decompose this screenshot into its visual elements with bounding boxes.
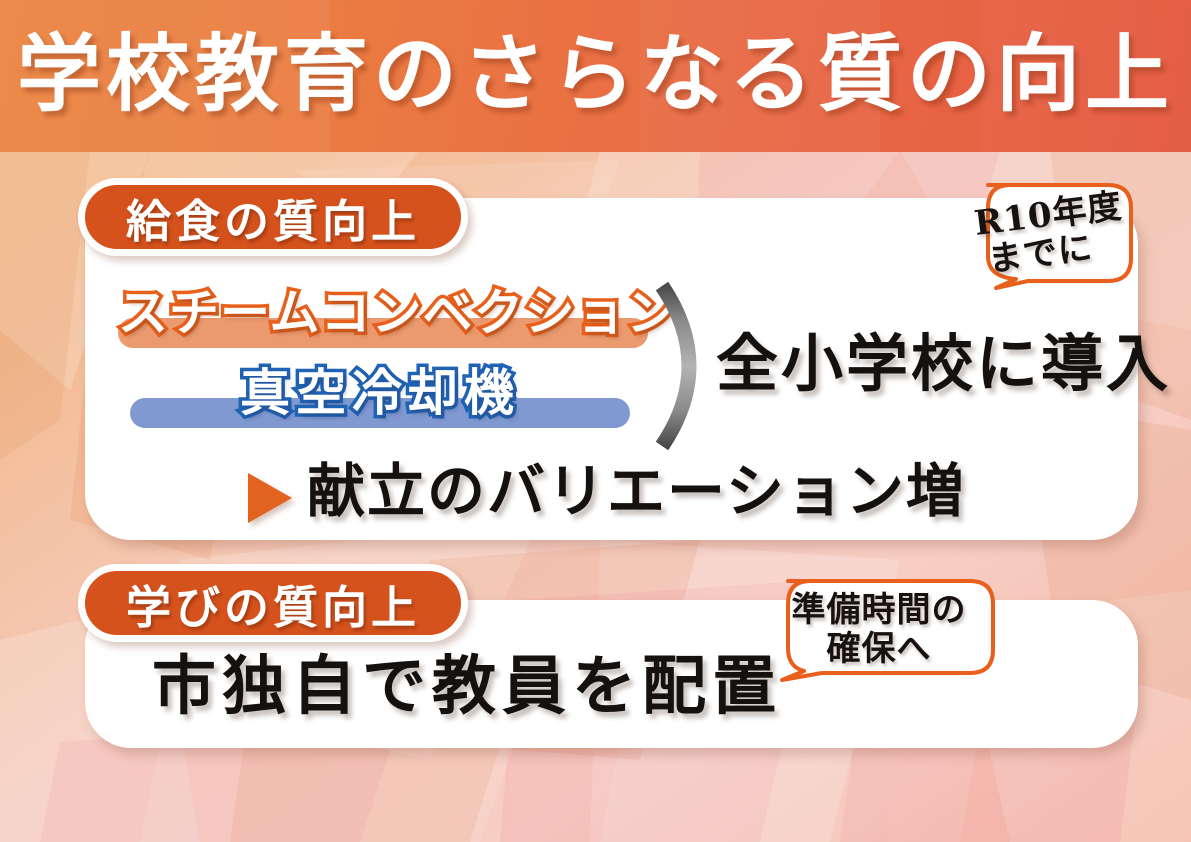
equipment-steam-convection: スチームコンベクション xyxy=(118,278,648,352)
headline-menu-variation: 献立のバリエーション増 xyxy=(307,462,966,520)
badge-kyushoku: 給食の質向上 xyxy=(78,178,468,256)
poster-root: 学校教育のさらなる質の向上 給食の質向上 スチームコンベクション 真空冷却機 全… xyxy=(0,0,1191,842)
equipment-vacuum-label: 真空冷却機 xyxy=(130,358,630,428)
page-title: 学校教育のさらなる質の向上 xyxy=(0,0,1191,152)
bubble-preparation-line2: 確保へ xyxy=(827,630,932,669)
headline-teacher-placement: 市独自で教員を配置 xyxy=(152,655,782,719)
bubble-r10-text: R10年度 までに xyxy=(962,182,1134,290)
title-banner: 学校教育のさらなる質の向上 xyxy=(0,0,1191,152)
bubble-preparation-line1: 準備時間の xyxy=(792,591,967,630)
badge-manabi: 学びの質向上 xyxy=(78,564,468,642)
triangle-right-icon xyxy=(248,473,292,523)
bubble-preparation-text: 準備時間の 確保へ xyxy=(762,578,996,682)
equipment-steam-label: スチームコンベクション xyxy=(118,278,648,348)
bubble-r10-deadline: R10年度 までに xyxy=(962,182,1134,290)
right-bracket-icon xyxy=(648,278,724,454)
equipment-vacuum-cooler: 真空冷却機 xyxy=(130,358,630,432)
bubble-preparation-time: 準備時間の 確保へ xyxy=(762,578,996,682)
headline-all-schools: 全小学校に導入 xyxy=(716,333,1171,395)
